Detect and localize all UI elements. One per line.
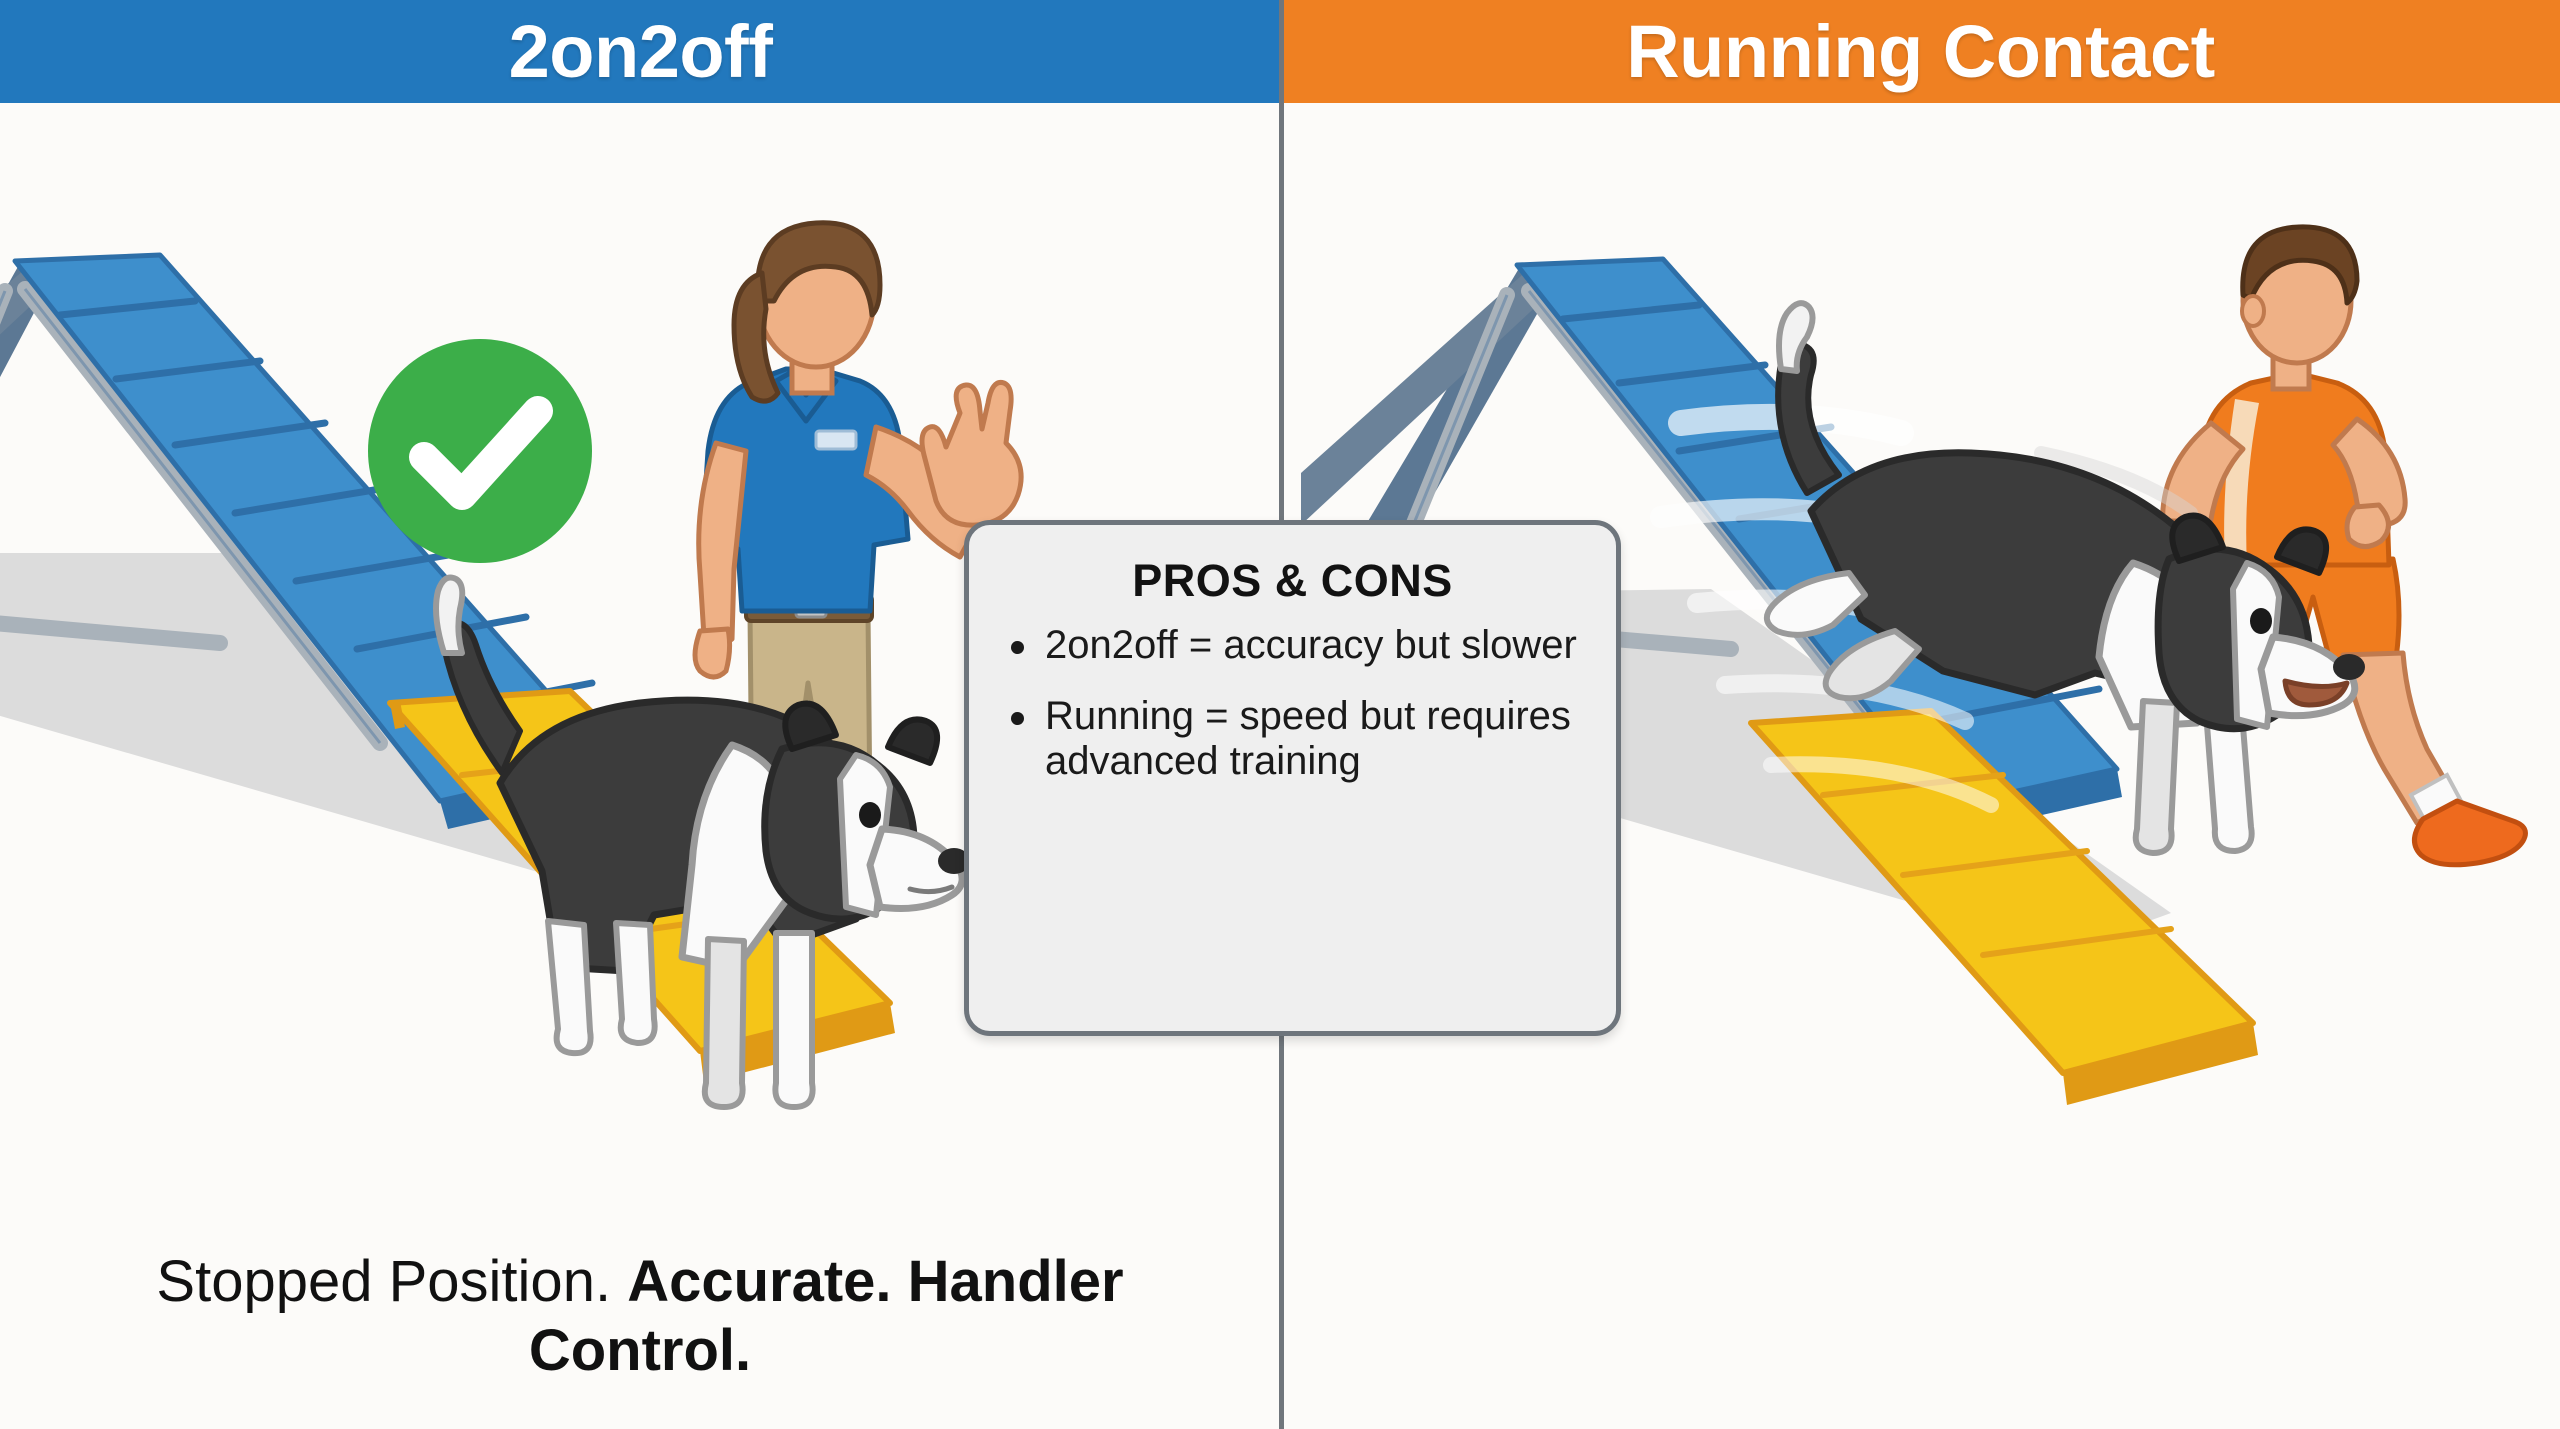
- callout-bullet-item: 2on2off = accuracy but slower: [1003, 623, 1582, 668]
- pros-and-cons-callout: PROS & CONS 2on2off = accuracy but slowe…: [964, 520, 1621, 1036]
- dog-border-collie-running: [1681, 263, 2461, 883]
- header-banner-right: Running Contact: [1281, 0, 2560, 103]
- dog-border-collie-stopped: [350, 533, 1050, 1133]
- open-palm-icon: [922, 382, 1021, 525]
- callout-bullet-list: 2on2off = accuracy but slower Running = …: [1003, 623, 1582, 783]
- header-title-right: Running Contact: [1626, 15, 2215, 89]
- callout-bullet-item: Running = speed but requires advanced tr…: [1003, 694, 1582, 784]
- callout-title: PROS & CONS: [1003, 555, 1582, 607]
- caption-left: Stopped Position. Accurate. Handler Cont…: [60, 1248, 1220, 1385]
- header-banner-left: 2on2off: [0, 0, 1281, 103]
- infographic-canvas: 2on2off Running Contact: [0, 0, 2560, 1429]
- check-circle-icon: [368, 339, 592, 563]
- header-title-left: 2on2off: [509, 15, 773, 89]
- caption-left-regular: Stopped Position.: [156, 1249, 627, 1314]
